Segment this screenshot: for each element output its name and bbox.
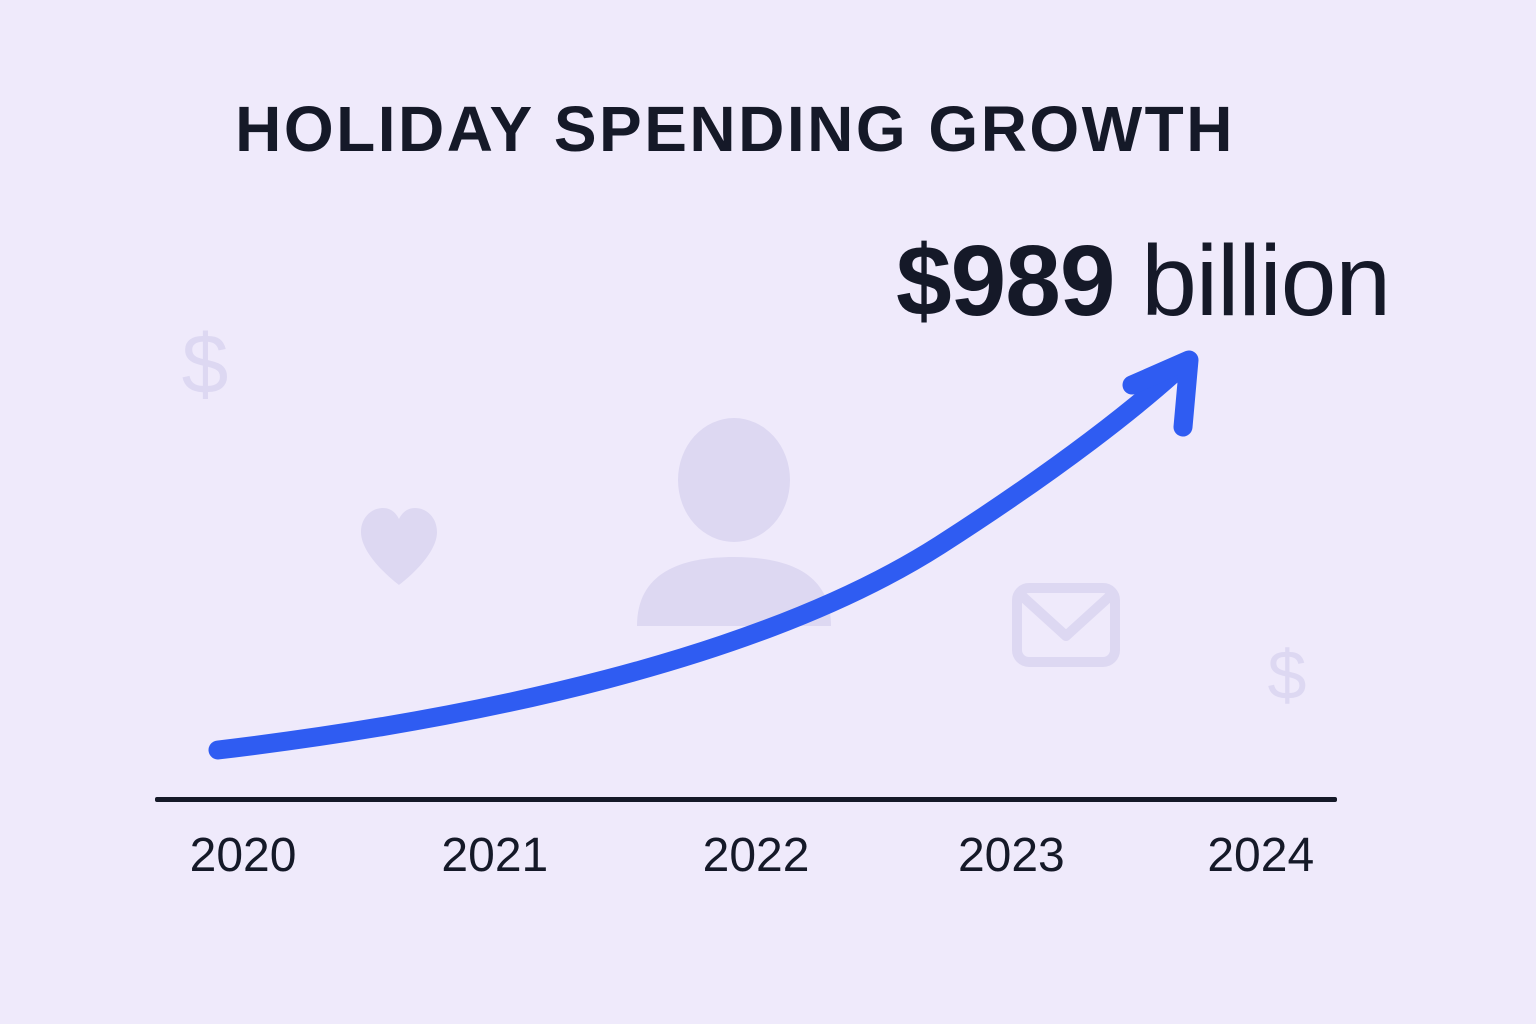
infographic-canvas: $ $ HOLIDAY SPENDING GROWTH $989 billion… xyxy=(0,0,1536,1024)
x-axis-line xyxy=(155,797,1337,802)
x-tick-label: 2020 xyxy=(190,832,297,880)
growth-arrow xyxy=(218,360,1189,750)
x-tick-label: 2023 xyxy=(958,832,1065,880)
x-tick-label: 2021 xyxy=(441,832,548,880)
growth-arrow-curve xyxy=(218,362,1186,750)
x-tick-label: 2024 xyxy=(1207,832,1314,880)
x-axis-tick-labels: 2020 2021 2022 2023 2024 xyxy=(155,832,1337,892)
x-tick-label: 2022 xyxy=(703,832,810,880)
